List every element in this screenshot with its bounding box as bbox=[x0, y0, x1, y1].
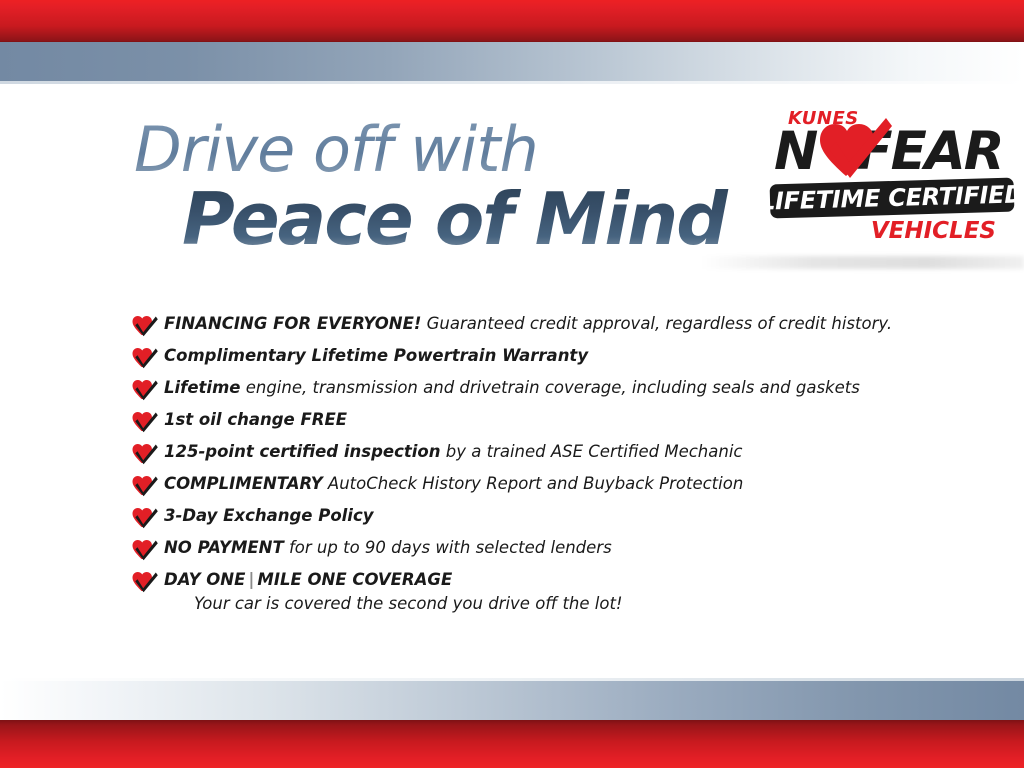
logo-letter-n: N bbox=[774, 124, 816, 180]
list-item-text: Lifetime engine, transmission and drivet… bbox=[164, 376, 972, 400]
list-item: 3-Day Exchange Policy bbox=[132, 504, 972, 536]
list-item-strong: Lifetime bbox=[164, 378, 240, 397]
list-item-strong: COMPLIMENTARY bbox=[164, 474, 323, 493]
heart-check-icon bbox=[132, 443, 158, 465]
list-item-strong: Complimentary Lifetime Powertrain Warran… bbox=[164, 346, 588, 365]
heart-check-icon bbox=[132, 379, 158, 401]
bottom-red-band bbox=[0, 720, 1024, 768]
heart-check-icon bbox=[132, 411, 158, 433]
logo-lifetime-certified-text: LIFETIME CERTIFIED bbox=[770, 178, 1015, 219]
list-item: 125-point certified inspection by a trai… bbox=[132, 440, 972, 472]
heart-check-icon bbox=[132, 475, 158, 497]
list-item-day-one: DAY ONE|MILE ONE COVERAGE Your car is co… bbox=[132, 568, 972, 616]
list-item-text: Complimentary Lifetime Powertrain Warran… bbox=[164, 344, 972, 368]
list-item-normal: Guaranteed credit approval, regardless o… bbox=[421, 314, 892, 333]
kunes-no-fear-logo: KUNES NFEAR LIFETIME CERTIFIED VEHICLES bbox=[770, 108, 1014, 248]
list-item-strong: 1st oil change FREE bbox=[164, 410, 347, 429]
promo-banner: Drive off with Peace of Mind KUNES NFEAR… bbox=[0, 0, 1024, 768]
heart-check-icon bbox=[132, 507, 158, 529]
list-item: COMPLIMENTARY AutoCheck History Report a… bbox=[132, 472, 972, 504]
day-one-separator: | bbox=[245, 570, 257, 589]
heart-check-icon bbox=[132, 571, 158, 593]
list-item-normal: for up to 90 days with selected lenders bbox=[284, 538, 612, 557]
list-item-strong: FINANCING FOR EVERYONE! bbox=[164, 314, 421, 333]
top-gray-gradient-band bbox=[0, 42, 1024, 81]
list-item: 1st oil change FREE bbox=[132, 408, 972, 440]
list-item-text: 1st oil change FREE bbox=[164, 408, 972, 432]
list-item-strong: 125-point certified inspection bbox=[164, 442, 441, 461]
day-one-subtext: Your car is covered the second you drive… bbox=[164, 592, 972, 616]
headline-block: Drive off with Peace of Mind bbox=[134, 118, 734, 258]
bottom-gray-gradient-band bbox=[0, 681, 1024, 720]
heart-check-icon bbox=[132, 347, 158, 369]
list-item-text: 125-point certified inspection by a trai… bbox=[164, 440, 972, 464]
list-item-normal: by a trained ASE Certified Mechanic bbox=[441, 442, 743, 461]
top-band-edge bbox=[0, 81, 1024, 84]
headline-divider-shadow bbox=[700, 256, 1024, 269]
list-item-strong: NO PAYMENT bbox=[164, 538, 284, 557]
list-item-text: 3-Day Exchange Policy bbox=[164, 504, 972, 528]
headline-line-2: Peace of Mind bbox=[182, 180, 734, 258]
list-item-normal: AutoCheck History Report and Buyback Pro… bbox=[323, 474, 744, 493]
headline-line-1: Drive off with bbox=[134, 118, 734, 182]
benefits-list: FINANCING FOR EVERYONE! Guaranteed credi… bbox=[132, 312, 972, 616]
list-item-text: DAY ONE|MILE ONE COVERAGE bbox=[164, 568, 972, 592]
list-item-text: FINANCING FOR EVERYONE! Guaranteed credi… bbox=[164, 312, 972, 336]
day-one-label: DAY ONE bbox=[164, 570, 245, 589]
list-item: FINANCING FOR EVERYONE! Guaranteed credi… bbox=[132, 312, 972, 344]
list-item-strong: 3-Day Exchange Policy bbox=[164, 506, 374, 525]
heart-check-icon bbox=[132, 315, 158, 337]
list-item: Lifetime engine, transmission and drivet… bbox=[132, 376, 972, 408]
logo-vehicles-text: VEHICLES bbox=[871, 218, 996, 244]
list-item: NO PAYMENT for up to 90 days with select… bbox=[132, 536, 972, 568]
heart-check-icon bbox=[132, 539, 158, 561]
mile-one-label: MILE ONE COVERAGE bbox=[257, 570, 452, 589]
list-item: Complimentary Lifetime Powertrain Warran… bbox=[132, 344, 972, 376]
heart-check-icon bbox=[816, 116, 892, 184]
list-item-text: COMPLIMENTARY AutoCheck History Report a… bbox=[164, 472, 972, 496]
logo-lifetime-certified-band: LIFETIME CERTIFIED bbox=[770, 178, 1015, 219]
list-item-text: NO PAYMENT for up to 90 days with select… bbox=[164, 536, 972, 560]
top-red-band bbox=[0, 0, 1024, 42]
list-item-normal: engine, transmission and drivetrain cove… bbox=[240, 378, 859, 397]
